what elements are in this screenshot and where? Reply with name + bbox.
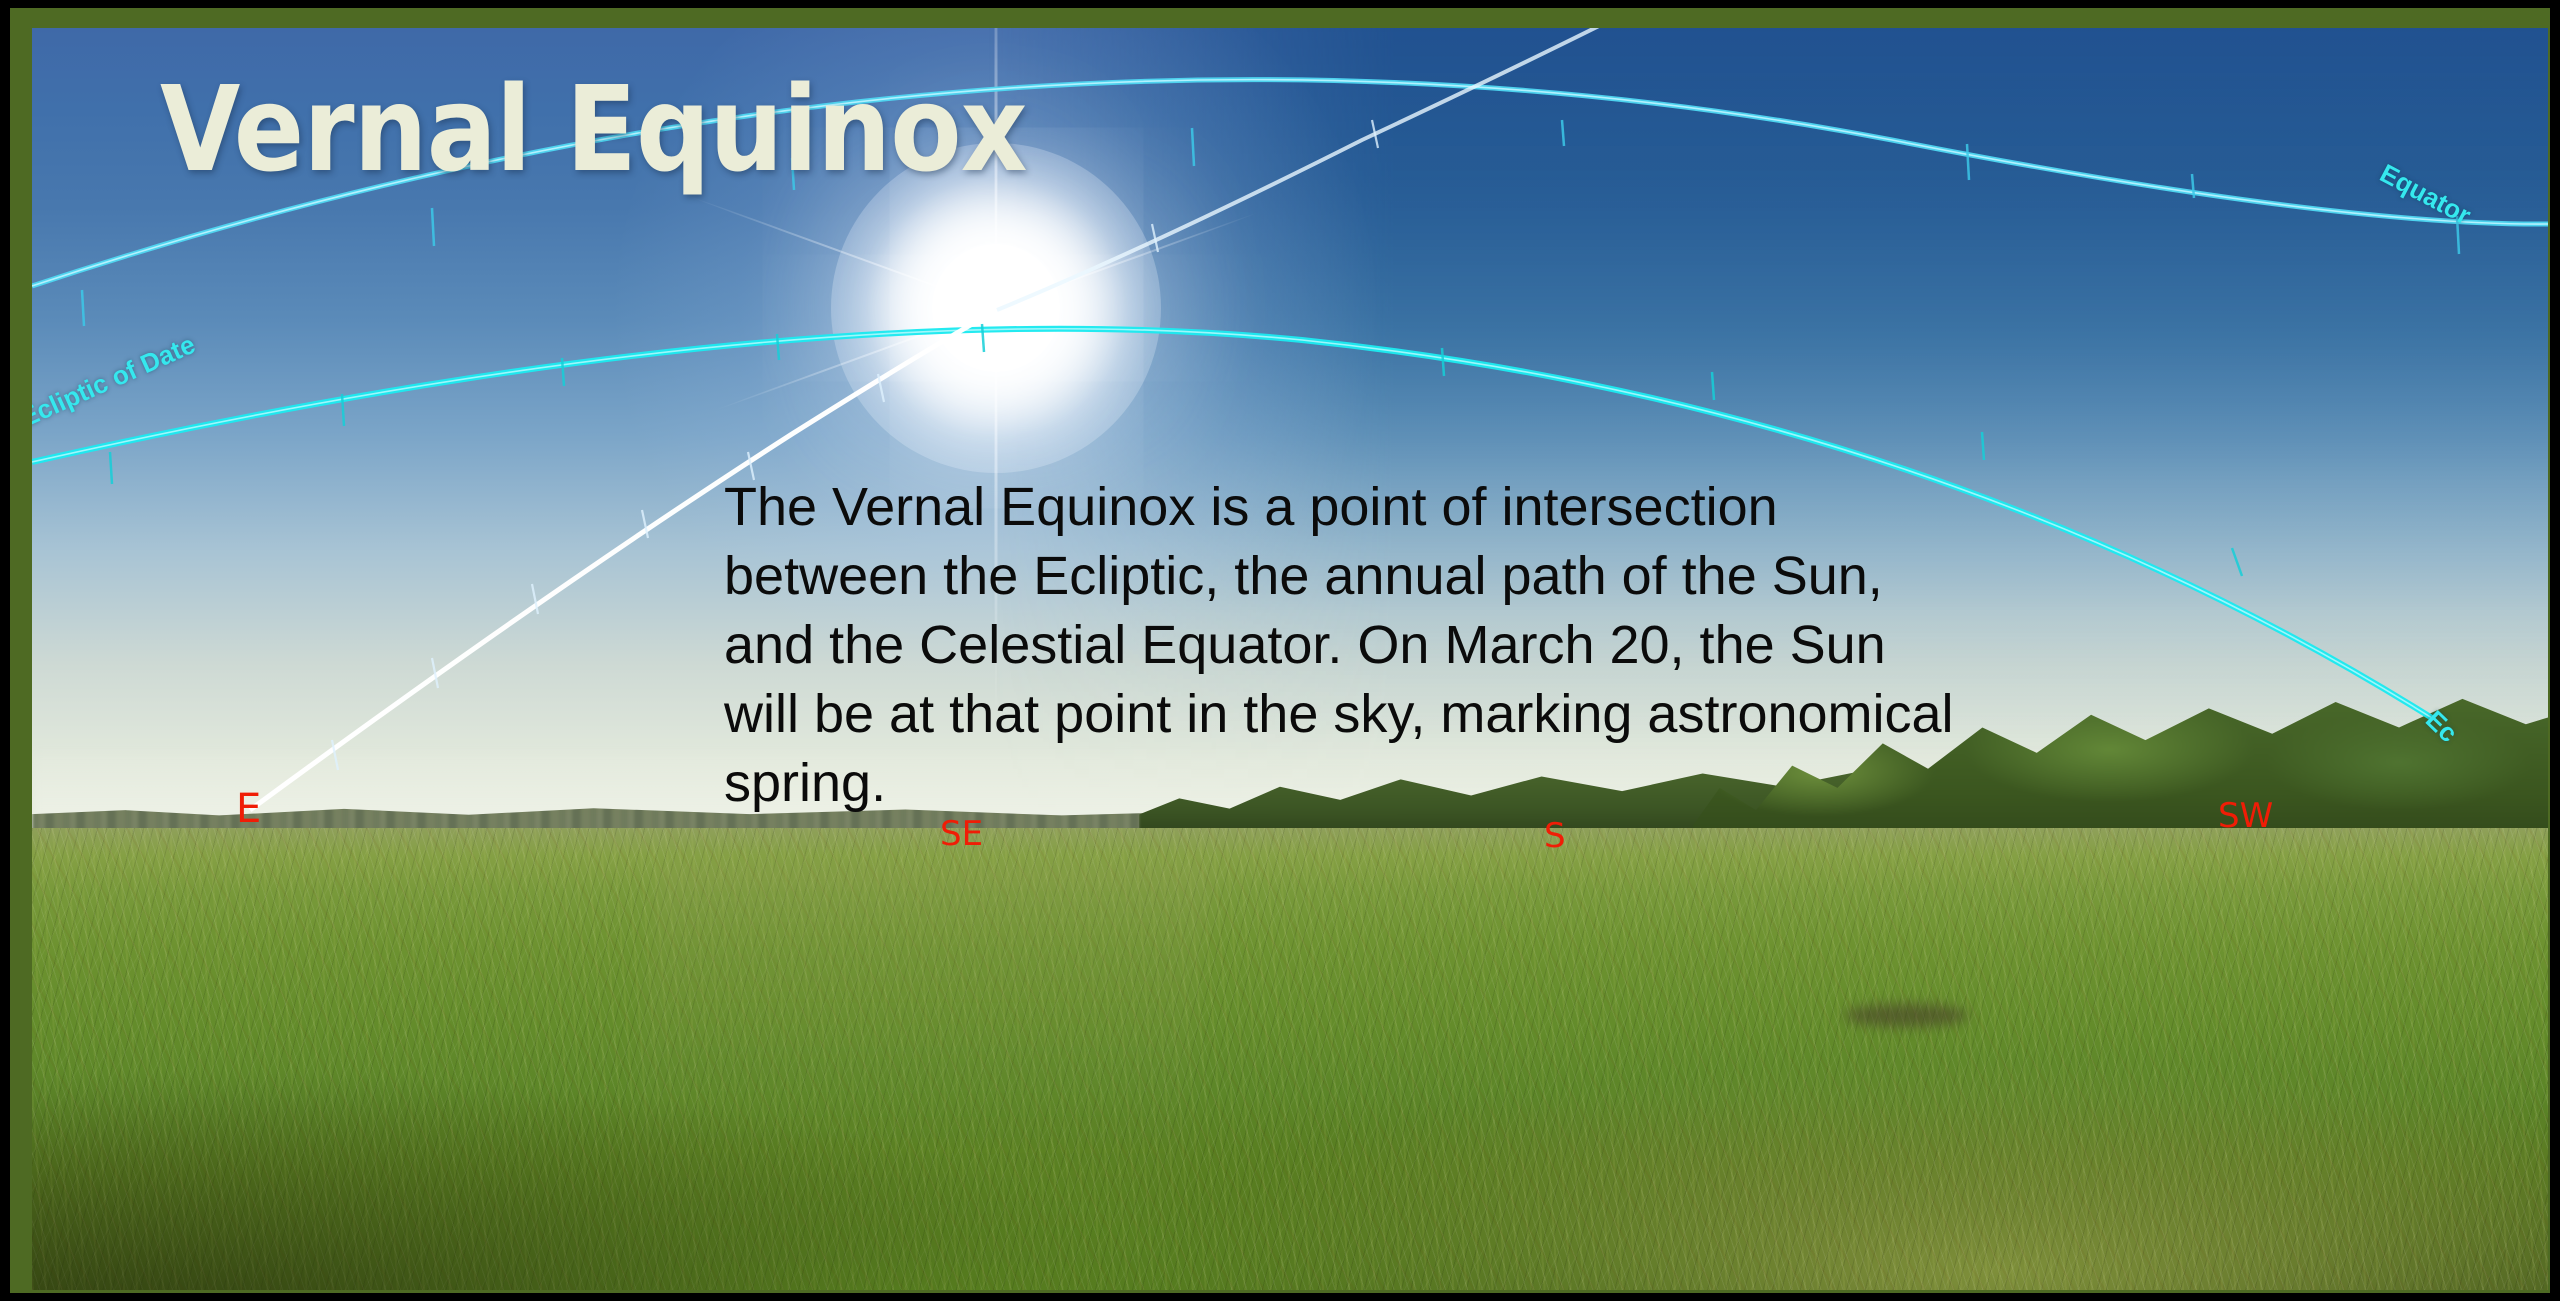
slide-border: Ecliptic of Date Equator Ec E SE S SW Ve…: [10, 8, 2550, 1293]
description-text: The Vernal Equinox is a point of interse…: [724, 473, 1954, 819]
compass-label-east: E: [236, 786, 261, 832]
page-title: Vernal Equinox: [160, 70, 1027, 188]
sky-photograph: Ecliptic of Date Equator Ec E SE S SW Ve…: [32, 28, 2548, 1290]
compass-label-southeast: SE: [940, 814, 983, 854]
compass-label-southwest: SW: [2218, 796, 2273, 836]
compass-label-south: S: [1544, 816, 1566, 856]
slide-canvas: Ecliptic of Date Equator Ec E SE S SW Ve…: [0, 0, 2560, 1301]
